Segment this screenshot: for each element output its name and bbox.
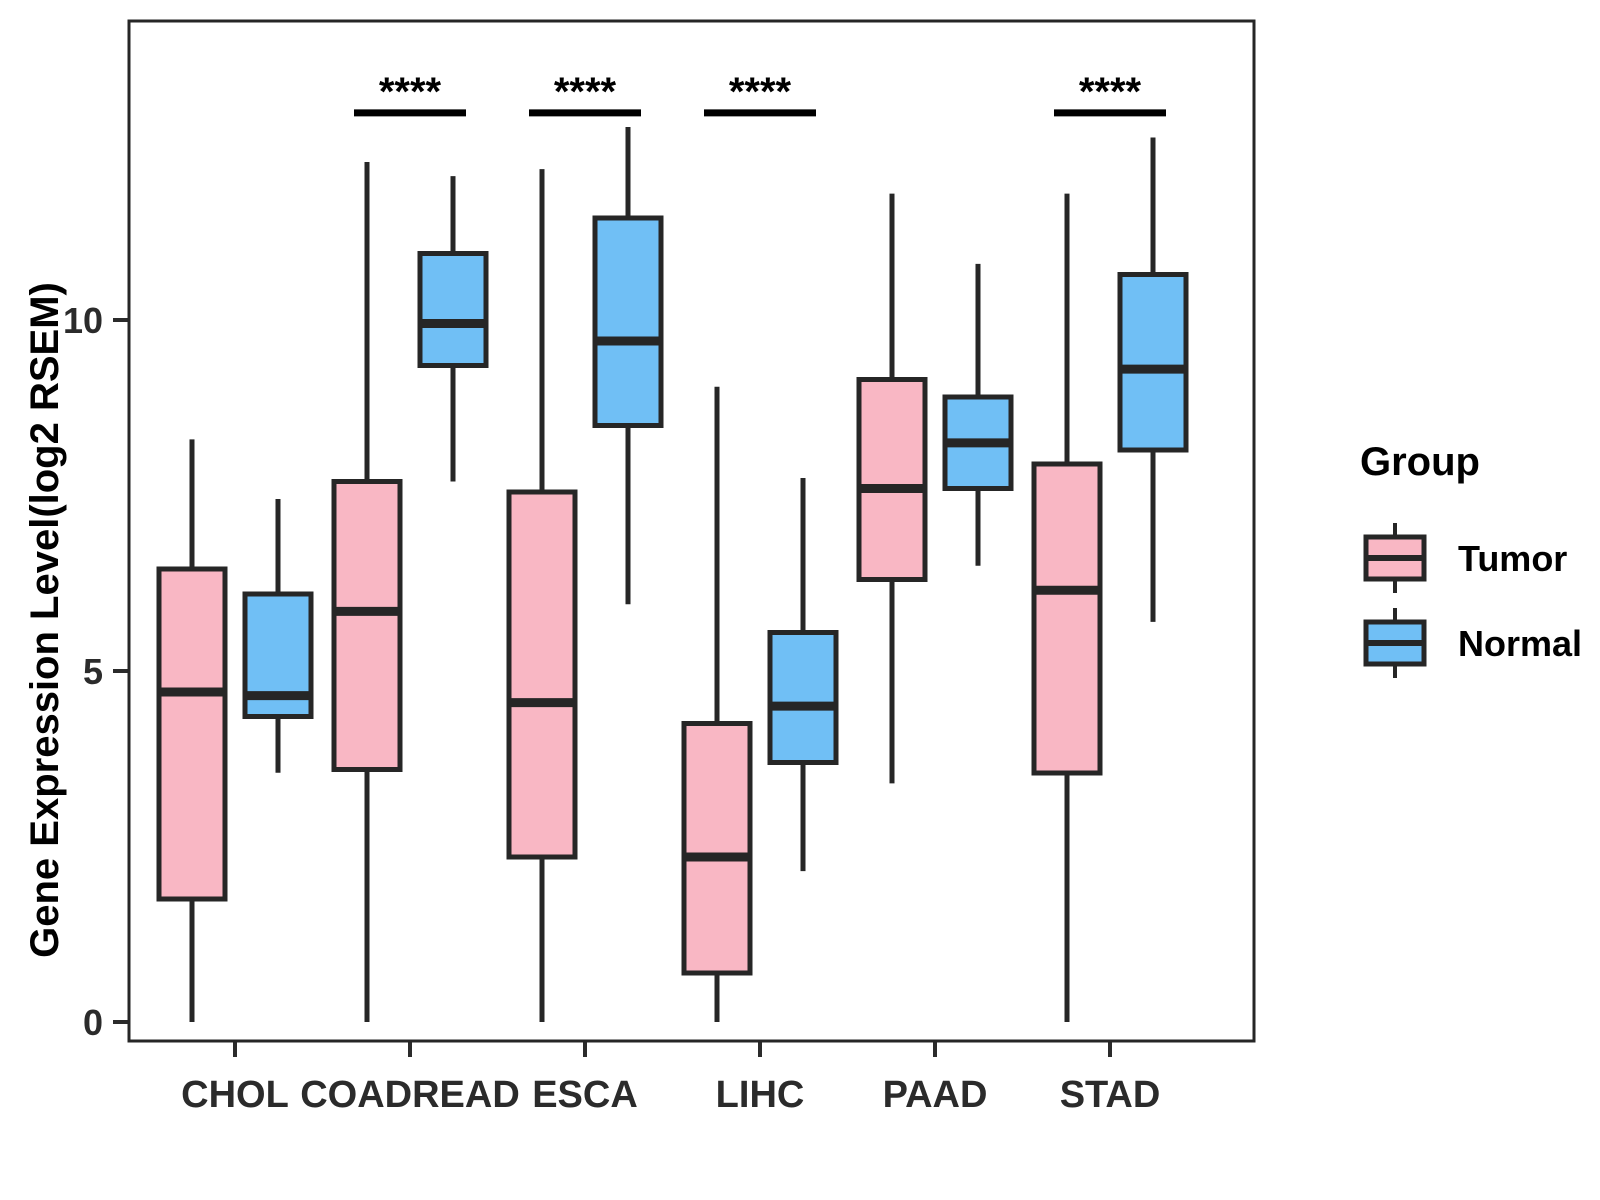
box-rect bbox=[595, 218, 661, 425]
y-tick-label: 5 bbox=[83, 651, 103, 692]
legend-title: Group bbox=[1360, 440, 1480, 484]
box-rect bbox=[684, 724, 750, 973]
y-tick-label: 0 bbox=[83, 1002, 103, 1043]
box-rect bbox=[420, 253, 486, 365]
x-tick-label-esca: ESCA bbox=[532, 1074, 638, 1116]
x-tick-label-lihc: LIHC bbox=[716, 1074, 805, 1116]
x-tick-label-coadread: COADREAD bbox=[300, 1074, 520, 1116]
boxplot-figure: Gene Expression Level(log2 RSEM) 0510 CH… bbox=[0, 0, 1600, 1200]
x-tick-label-chol: CHOL bbox=[181, 1074, 289, 1116]
box-rect bbox=[770, 632, 836, 762]
y-tick-label: 10 bbox=[63, 300, 103, 341]
legend-label: Normal bbox=[1458, 623, 1582, 664]
significance-stars: **** bbox=[729, 70, 792, 114]
legend-label: Tumor bbox=[1458, 538, 1567, 579]
box-rect bbox=[1034, 464, 1100, 773]
box-rect bbox=[1120, 274, 1186, 450]
figure-background bbox=[0, 0, 1600, 1200]
significance-stars: **** bbox=[554, 70, 617, 114]
y-axis-title: Gene Expression Level(log2 RSEM) bbox=[23, 282, 67, 958]
significance-stars: **** bbox=[1079, 70, 1142, 114]
box-rect bbox=[509, 492, 575, 857]
chart-root: Gene Expression Level(log2 RSEM) 0510 CH… bbox=[0, 0, 1600, 1200]
box-rect bbox=[159, 569, 225, 899]
box-rect bbox=[334, 481, 400, 769]
x-tick-label-paad: PAAD bbox=[883, 1074, 988, 1116]
significance-stars: **** bbox=[379, 70, 442, 114]
x-tick-label-stad: STAD bbox=[1060, 1074, 1161, 1116]
box-rect bbox=[859, 380, 925, 580]
